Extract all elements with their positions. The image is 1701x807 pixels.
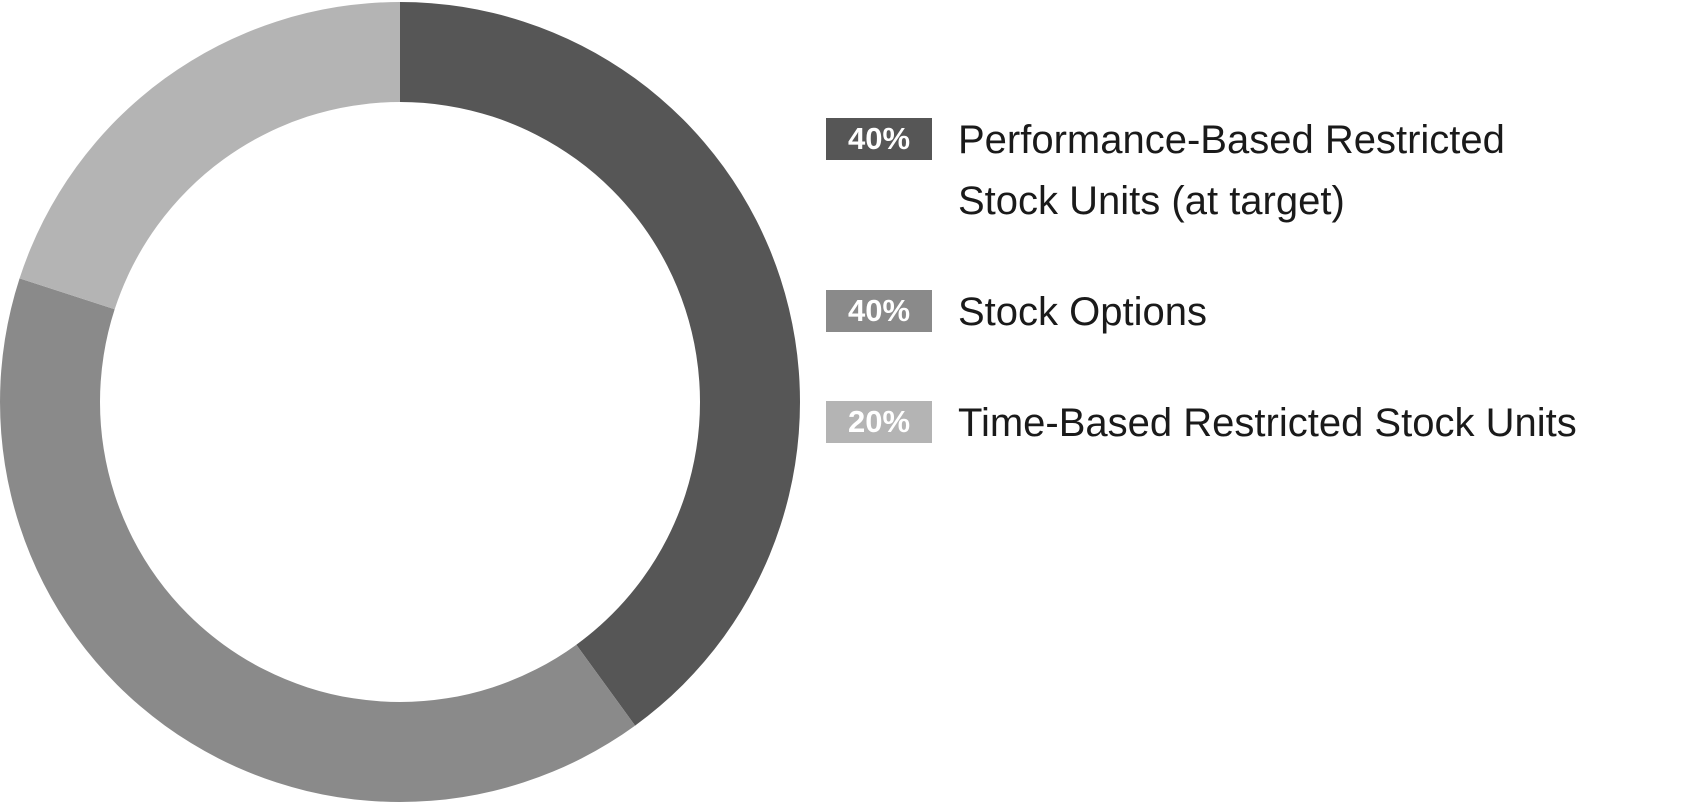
donut-slice-group — [0, 2, 800, 802]
donut-slice-1 — [400, 2, 800, 726]
legend-swatch-badge-performance-based-rsu: 40% — [826, 118, 932, 160]
donut-slice-2 — [0, 278, 635, 802]
donut-chart-figure: 40% Performance-Based Restricted Stock U… — [0, 0, 1701, 807]
legend-swatch-badge-time-based-rsu: 20% — [826, 401, 932, 443]
legend-item-performance-based-rsu: 40% Performance-Based Restricted Stock U… — [826, 118, 1646, 232]
legend-swatch-badge-stock-options: 40% — [826, 290, 932, 332]
donut-svg — [0, 0, 810, 807]
chart-legend: 40% Performance-Based Restricted Stock U… — [826, 118, 1646, 454]
legend-label-stock-options: Stock Options — [958, 282, 1207, 343]
donut-chart-graphic — [0, 0, 810, 807]
legend-item-time-based-rsu: 20% Time-Based Restricted Stock Units — [826, 401, 1646, 454]
legend-label-performance-based-rsu: Performance-Based Restricted Stock Units… — [958, 110, 1518, 232]
legend-label-time-based-rsu: Time-Based Restricted Stock Units — [958, 393, 1577, 454]
legend-item-stock-options: 40% Stock Options — [826, 290, 1646, 343]
donut-slice-3 — [20, 2, 400, 309]
